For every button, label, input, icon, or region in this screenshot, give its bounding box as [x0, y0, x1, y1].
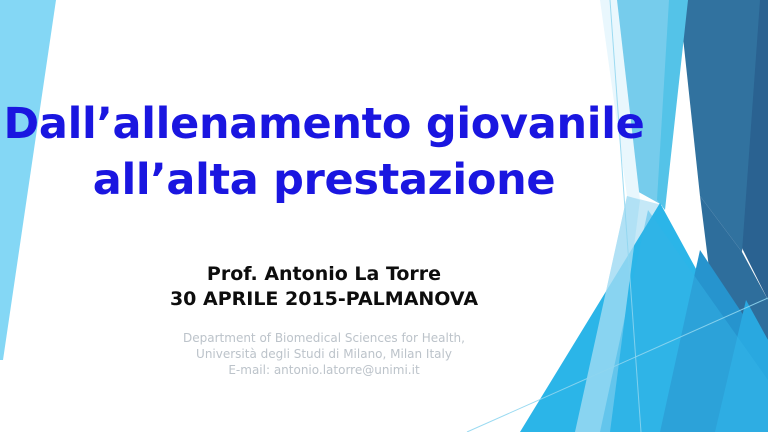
affiliation-email: E-mail: antonio.latorre@unimi.it: [0, 362, 648, 378]
affiliation: Department of Biomedical Sciences for He…: [0, 330, 648, 378]
presenter-name: Prof. Antonio La Torre: [0, 262, 648, 287]
slide-title: Dall’allenamento giovanile all’alta pres…: [0, 96, 648, 208]
event-date-location: 30 APRILE 2015-PALMANOVA: [0, 287, 648, 312]
title-line-1: Dall’allenamento giovanile: [0, 96, 648, 152]
slide-content: Dall’allenamento giovanile all’alta pres…: [0, 0, 768, 432]
title-line-2: all’alta prestazione: [0, 152, 648, 208]
slide-subtitle: Prof. Antonio La Torre 30 APRILE 2015-PA…: [0, 262, 648, 312]
affiliation-university: Università degli Studi di Milano, Milan …: [0, 346, 648, 362]
title-slide: Dall’allenamento giovanile all’alta pres…: [0, 0, 768, 432]
affiliation-department: Department of Biomedical Sciences for He…: [0, 330, 648, 346]
